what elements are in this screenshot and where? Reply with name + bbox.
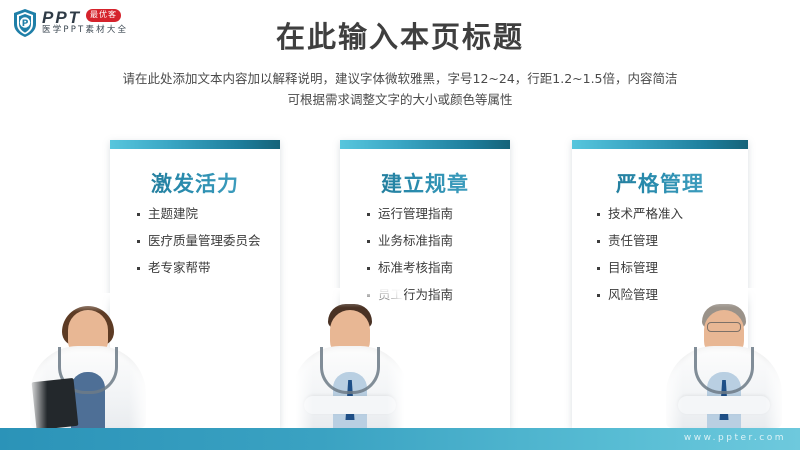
neck: [77, 348, 99, 366]
footer-bar: www.ppter.com: [0, 428, 800, 450]
list-item: 责任管理: [596, 233, 736, 249]
page-title: 在此输入本页标题: [0, 14, 800, 56]
list-item: 业务标准指南: [366, 233, 498, 249]
list-item: 目标管理: [596, 260, 736, 276]
page-subtitle: 请在此处添加文本内容加以解释说明，建议字体微软雅黑，字号12~24，行距1.2~…: [0, 68, 800, 110]
list-item: 员工行为指南: [366, 287, 498, 303]
list-item: 技术严格准入: [596, 206, 736, 222]
footer-url[interactable]: www.ppter.com: [684, 433, 786, 443]
list-item: 主题建院: [136, 206, 268, 222]
stethoscope-icon: [58, 347, 118, 394]
card-bullet-list-1: 主题建院 医疗质量管理委员会 老专家帮带: [136, 206, 268, 287]
card-bullet-list-2: 运行管理指南 业务标准指南 标准考核指南 员工行为指南: [366, 206, 498, 314]
list-item: 风险管理: [596, 287, 736, 303]
card-title-1: 激发活力: [110, 168, 280, 198]
card-title-3: 严格管理: [572, 168, 748, 198]
hair: [62, 306, 114, 346]
list-item: 老专家帮带: [136, 260, 268, 276]
subtitle-line-2: 可根据需求调整文字的大小或颜色等属性: [0, 89, 800, 110]
card-title-2: 建立规章: [340, 168, 510, 198]
list-item: 标准考核指南: [366, 260, 498, 276]
subtitle-line-1: 请在此处添加文本内容加以解释说明，建议字体微软雅黑，字号12~24，行距1.2~…: [0, 68, 800, 89]
face: [71, 314, 105, 344]
content-card-1[interactable]: 激发活力 主题建院 医疗质量管理委员会 老专家帮带: [110, 140, 280, 428]
card-accent-bar: [340, 140, 510, 149]
list-item: 医疗质量管理委员会: [136, 233, 268, 249]
card-accent-bar: [110, 140, 280, 149]
list-item: 运行管理指南: [366, 206, 498, 222]
card-bullet-list-3: 技术严格准入 责任管理 目标管理 风险管理: [596, 206, 736, 314]
card-accent-bar: [572, 140, 748, 149]
slide-canvas: P PPT 最优客 医学PPT素材大全 在此输入本页标题 请在此处添加文本内容加…: [0, 0, 800, 450]
content-card-3[interactable]: 严格管理 技术严格准入 责任管理 目标管理 风险管理: [572, 140, 748, 428]
scrub-shirt: [71, 372, 105, 428]
xray-film: [32, 378, 79, 428]
head: [68, 310, 108, 358]
content-card-2[interactable]: 建立规章 运行管理指南 业务标准指南 标准考核指南 员工行为指南: [340, 140, 510, 428]
